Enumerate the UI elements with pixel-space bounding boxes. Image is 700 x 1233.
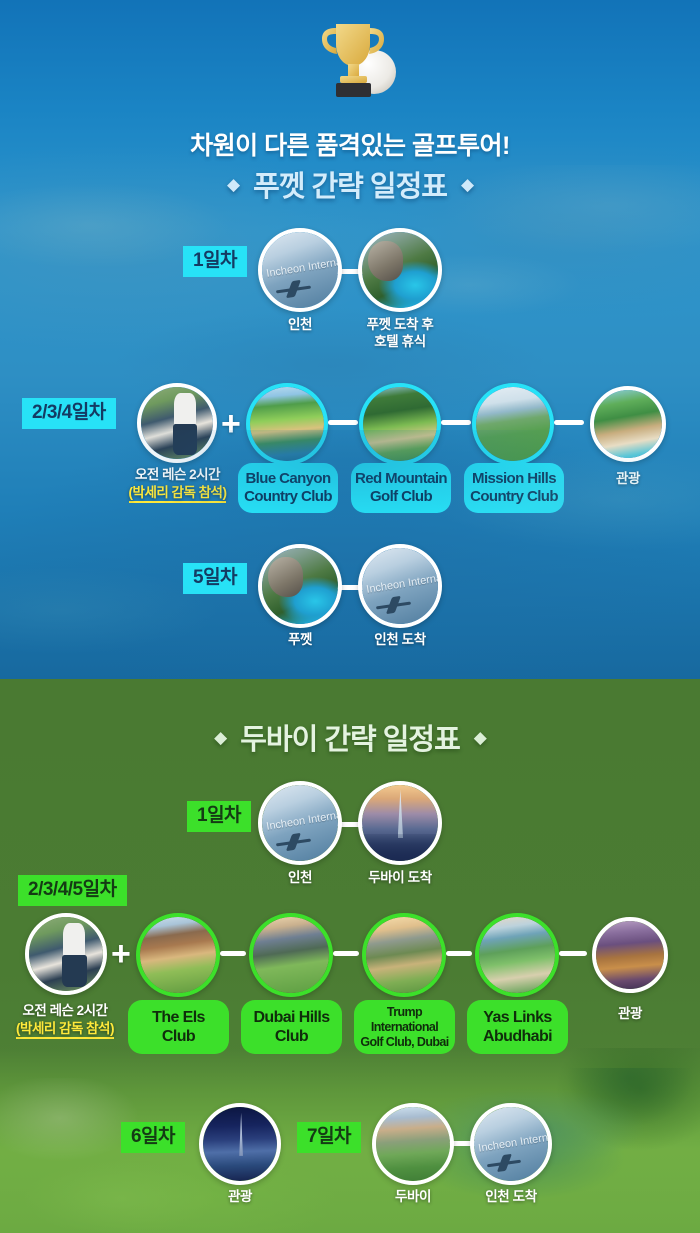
- tagline: 차원이 다른 품격있는 골프투어!: [0, 126, 700, 162]
- lesson-line-1: 오전 레슨 2시간: [135, 467, 220, 482]
- phuket-day-badge-1: 1일차: [183, 246, 247, 277]
- infographic-page: 차원이 다른 품격있는 골프투어! ◆ 푸껫 간략 일정표 ◆ 1일차 Inch…: [0, 0, 700, 1233]
- dubai-pill-course-2: Dubai Hills Club: [241, 1000, 342, 1054]
- dubai-day-badge-2345: 2/3/4/5일차: [18, 875, 127, 906]
- dubai-caption-depart: 두바이: [363, 1188, 463, 1205]
- phuket-node-tour: [590, 386, 666, 462]
- phuket-pill-course-2: Red Mountain Golf Club: [351, 463, 451, 513]
- phuket-pill-course-3: Mission Hills Country Club: [464, 463, 564, 513]
- phuket-pill-course-1: Blue Canyon Country Club: [238, 463, 338, 513]
- dubai-node-depart-dubai: [372, 1103, 454, 1185]
- dubai-caption-tour: 관광: [580, 1005, 680, 1022]
- dubai-caption-return: 인천 도착: [461, 1188, 561, 1205]
- dubai-node-incheon: Incheon International: [258, 781, 342, 865]
- lesson-line-2: (박세리 감독 참석): [16, 1020, 114, 1040]
- dubai-node-arrive: [358, 781, 442, 865]
- phuket-day-badge-234: 2/3/4일차: [22, 398, 116, 429]
- phuket-node-lesson: [137, 383, 217, 463]
- dubai-day-badge-1: 1일차: [187, 801, 251, 832]
- dubai-node-course-4: [475, 913, 559, 997]
- dubai-pill-course-1: The Els Club: [128, 1000, 229, 1054]
- connector: [220, 951, 246, 956]
- phuket-caption-tour: 관광: [578, 470, 678, 487]
- phuket-node-arrive-incheon: Incheon International: [358, 544, 442, 628]
- connector: [559, 951, 587, 956]
- trophy-icon: [304, 14, 404, 106]
- dubai-title-text: 두바이 간략 일정표: [240, 716, 460, 758]
- dubai-pill-course-4: Yas Links Abudhabi: [467, 1000, 568, 1054]
- dubai-pill-course-3: Trump International Golf Club, Dubai: [354, 1000, 455, 1054]
- lesson-line-2: (박세리 감독 참석): [129, 484, 227, 504]
- dubai-node-lesson: [25, 913, 107, 995]
- phuket-section: 차원이 다른 품격있는 골프투어! ◆ 푸껫 간략 일정표 ◆ 1일차 Inch…: [0, 0, 700, 679]
- phuket-node-course-2: [359, 383, 441, 465]
- phuket-node-phuket-arrive: [358, 228, 442, 312]
- dubai-node-tour: [592, 917, 668, 993]
- phuket-node-depart-phuket: [258, 544, 342, 628]
- diamond-left-icon: ◆: [227, 176, 239, 193]
- connector: [441, 420, 471, 425]
- diamond-right-icon: ◆: [461, 176, 473, 193]
- dubai-node-course-3: [362, 913, 446, 997]
- connector: [328, 420, 358, 425]
- plus-icon: +: [111, 937, 131, 971]
- diamond-left-icon: ◆: [214, 729, 226, 746]
- phuket-caption-incheon: 인천: [250, 316, 350, 333]
- phuket-caption-depart: 푸껫: [250, 631, 350, 648]
- plus-icon: +: [221, 407, 241, 441]
- dubai-caption-sightseeing: 관광: [190, 1188, 290, 1205]
- phuket-day-badge-5: 5일차: [183, 563, 247, 594]
- connector: [446, 951, 472, 956]
- phuket-node-course-3: [472, 383, 554, 465]
- dubai-day-badge-6: 6일차: [121, 1122, 185, 1153]
- dubai-caption-incheon: 인천: [250, 869, 350, 886]
- phuket-caption-arrive: 푸껫 도착 후 호텔 휴식: [345, 316, 455, 351]
- dubai-node-sightseeing: [199, 1103, 281, 1185]
- dubai-lesson-caption: 오전 레슨 2시간 (박세리 감독 참석): [0, 1002, 130, 1039]
- phuket-title: ◆ 푸껫 간략 일정표 ◆: [0, 163, 700, 205]
- connector: [554, 420, 584, 425]
- dubai-node-course-1: [136, 913, 220, 997]
- connector: [333, 951, 359, 956]
- dubai-node-course-2: [249, 913, 333, 997]
- dubai-node-arrive-incheon: Incheon International: [470, 1103, 552, 1185]
- dubai-caption-arrive: 두바이 도착: [345, 869, 455, 886]
- phuket-node-course-1: [246, 383, 328, 465]
- dubai-title: ◆ 두바이 간략 일정표 ◆: [0, 716, 700, 758]
- lesson-line-1: 오전 레슨 2시간: [22, 1003, 107, 1018]
- dubai-day-badge-7: 7일차: [297, 1122, 361, 1153]
- phuket-caption-return: 인천 도착: [350, 631, 450, 648]
- diamond-right-icon: ◆: [474, 729, 486, 746]
- phuket-title-text: 푸껫 간략 일정표: [253, 163, 447, 205]
- phuket-lesson-caption: 오전 레슨 2시간 (박세리 감독 참석): [110, 466, 245, 503]
- phuket-node-incheon: Incheon International: [258, 228, 342, 312]
